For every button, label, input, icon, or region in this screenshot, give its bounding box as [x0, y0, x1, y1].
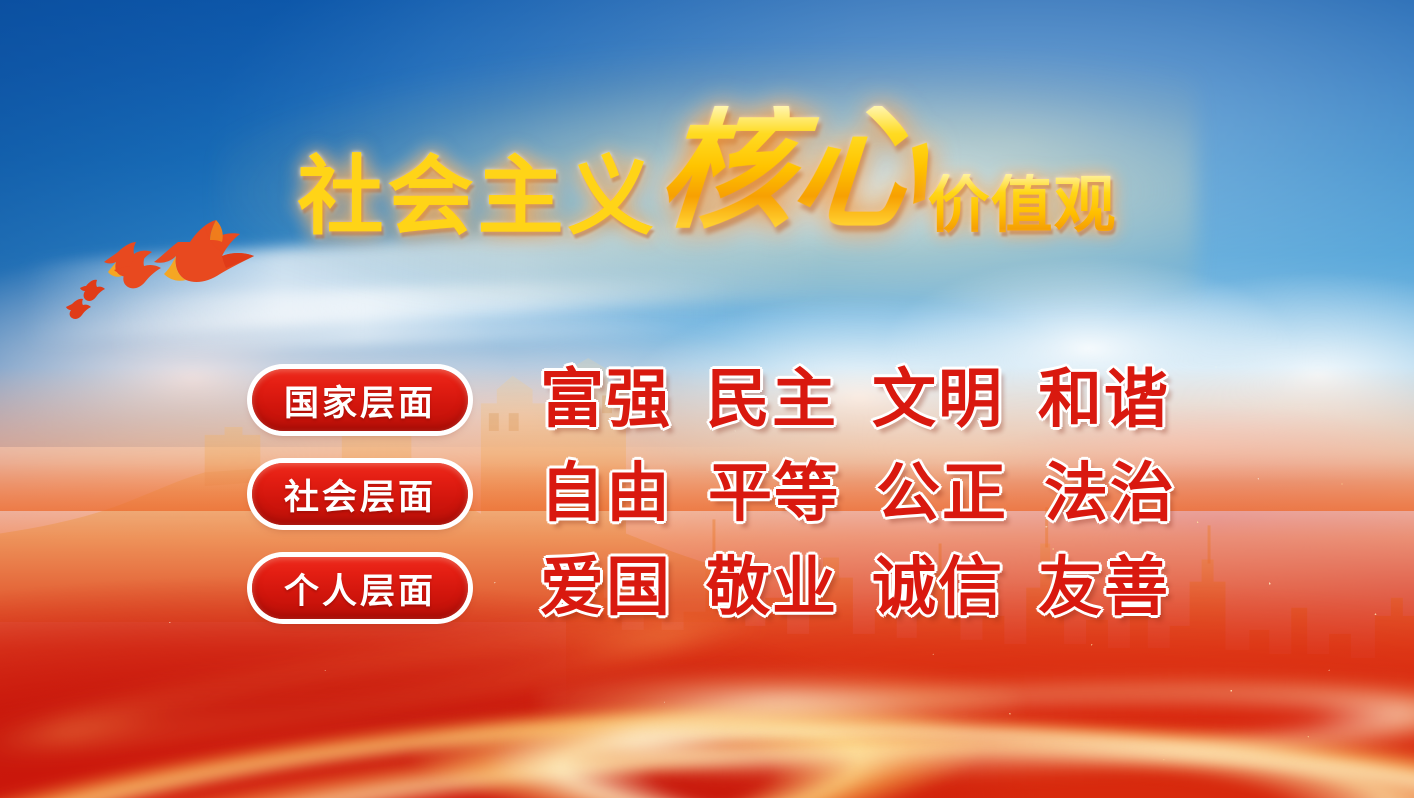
level-pill-individual[interactable]: 个人层面 — [252, 557, 468, 619]
level-pill-label: 社会层面 — [284, 469, 436, 520]
dove-small-2 — [66, 299, 91, 319]
value-item: 自由 — [540, 462, 672, 526]
value-item: 公正 — [876, 462, 1008, 526]
value-row-national: 国家层面 富强 民主 文明 和谐 — [252, 368, 1202, 432]
value-item: 诚信 — [872, 556, 1004, 620]
level-pill-social[interactable]: 社会层面 — [252, 463, 468, 525]
value-item: 民主 — [706, 368, 838, 432]
value-item: 友善 — [1038, 556, 1170, 620]
value-item: 文明 — [872, 368, 1004, 432]
value-item: 富强 — [540, 368, 672, 432]
value-list-national: 富强 民主 文明 和谐 — [540, 368, 1170, 432]
values-table: 国家层面 富强 民主 文明 和谐 社会层面 自由 平等 公正 法治 个人层面 — [252, 368, 1202, 620]
value-list-social: 自由 平等 公正 法治 — [540, 462, 1176, 526]
value-row-social: 社会层面 自由 平等 公正 法治 — [252, 462, 1202, 526]
value-item: 法治 — [1044, 462, 1176, 526]
center-glow — [537, 671, 1018, 731]
value-row-individual: 个人层面 爱国 敬业 诚信 友善 — [252, 556, 1202, 620]
dove-large — [154, 220, 254, 282]
value-item: 和谐 — [1038, 368, 1170, 432]
level-pill-label: 国家层面 — [284, 375, 436, 426]
level-pill-national[interactable]: 国家层面 — [252, 369, 468, 431]
poster-canvas: 社会主义 核心 价值观 国家层面 富强 民主 文明 和谐 社会层面 自由 平等 — [0, 0, 1414, 798]
value-item: 爱国 — [540, 556, 672, 620]
value-item: 敬业 — [706, 556, 838, 620]
value-item: 平等 — [708, 462, 840, 526]
dove-small-1 — [80, 280, 105, 301]
peace-doves — [40, 190, 290, 330]
level-pill-label: 个人层面 — [284, 563, 436, 614]
value-list-individual: 爱国 敬业 诚信 友善 — [540, 556, 1170, 620]
